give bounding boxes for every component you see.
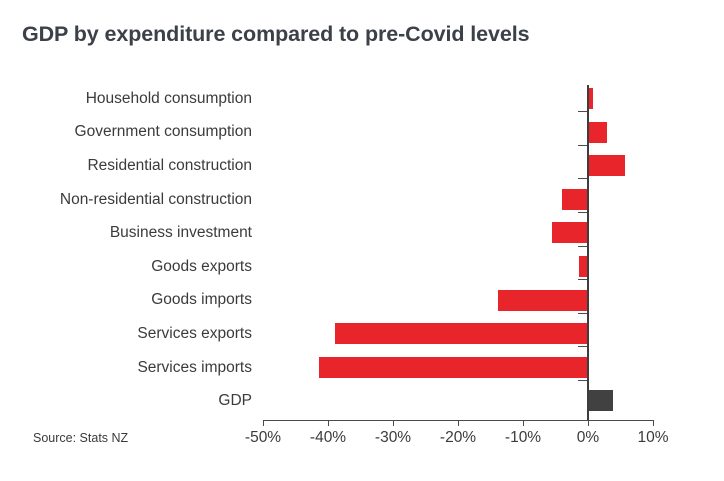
bar-goods-imports[interactable]: [498, 290, 588, 311]
x-tick-3: [458, 420, 459, 426]
y-tick-8: [578, 380, 587, 381]
chart-plot-area: Household consumption Government consump…: [0, 0, 724, 481]
category-label-residential-construction: Residential construction: [0, 156, 252, 176]
x-tick-5: [588, 420, 589, 426]
category-label-government-consumption: Government consumption: [0, 122, 252, 142]
category-label-services-imports: Services imports: [0, 358, 252, 378]
y-tick-1: [578, 145, 587, 146]
bar-residential-construction[interactable]: [588, 155, 625, 176]
bar-services-exports[interactable]: [335, 323, 588, 344]
y-tick-2: [578, 178, 587, 179]
category-label-non-residential-construction: Non-residential construction: [0, 190, 252, 210]
x-tick-label-6: 10%: [613, 429, 693, 447]
y-tick-4: [578, 246, 587, 247]
y-tick-6: [578, 313, 587, 314]
zero-axis-line: [587, 85, 589, 420]
category-label-business-investment: Business investment: [0, 223, 252, 243]
x-tick-6: [653, 420, 654, 426]
bar-gdp[interactable]: [588, 390, 613, 411]
x-tick-4: [523, 420, 524, 426]
y-tick-7: [578, 346, 587, 347]
category-label-goods-imports: Goods imports: [0, 290, 252, 310]
bar-business-investment[interactable]: [552, 222, 588, 243]
y-tick-5: [578, 279, 587, 280]
category-label-gdp: GDP: [0, 391, 252, 411]
bar-services-imports[interactable]: [319, 357, 588, 378]
x-tick-1: [328, 420, 329, 426]
x-tick-2: [393, 420, 394, 426]
category-label-services-exports: Services exports: [0, 324, 252, 344]
category-label-goods-exports: Goods exports: [0, 257, 252, 277]
y-tick-3: [578, 212, 587, 213]
source-note: Source: Stats NZ: [33, 431, 128, 445]
x-tick-0: [263, 420, 264, 426]
y-tick-0: [578, 111, 587, 112]
bar-government-consumption[interactable]: [588, 122, 607, 143]
category-label-household-consumption: Household consumption: [0, 89, 252, 109]
bar-non-residential-construction[interactable]: [562, 189, 588, 210]
